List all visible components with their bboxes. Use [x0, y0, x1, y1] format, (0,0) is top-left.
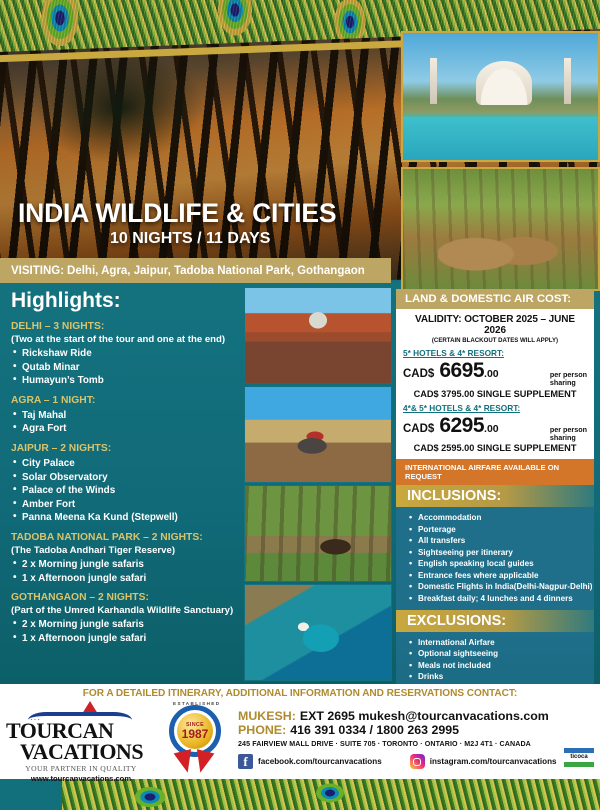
- list-item: All transfers: [418, 535, 594, 546]
- peacock-feather-banner-bottom: [0, 779, 600, 810]
- highlights-column: Highlights: DELHI – 3 NIGHTS:(Two at the…: [11, 289, 243, 652]
- tier-cents: .00: [484, 368, 499, 380]
- highlight-heading: DELHI – 3 NIGHTS:: [11, 321, 243, 334]
- badge-year: 1987: [182, 728, 209, 740]
- tier-supplement: CAD$ 2595.00 SINGLE SUPPLEMENT: [403, 443, 587, 453]
- highlight-item: Humayun’s Tomb: [11, 374, 243, 388]
- list-item: English speaking local guides: [418, 558, 594, 569]
- highlight-section: JAIPUR – 2 NIGHTS:City PalaceSolar Obser…: [11, 443, 243, 525]
- inclusions-header: INCLUSIONS:: [396, 485, 594, 507]
- tier-per-person: per person sharing: [550, 426, 587, 443]
- highlight-section: DELHI – 3 NIGHTS:(Two at the start of th…: [11, 321, 243, 388]
- logo-line-2: VACATIONS: [20, 742, 156, 763]
- peacock-photo: [244, 584, 392, 681]
- list-item: Sightseeing per itinerary: [418, 547, 594, 558]
- highlight-heading: AGRA – 1 NIGHT:: [11, 395, 243, 408]
- inclusions-list: AccommodationPorterageAll transfersSight…: [396, 507, 594, 610]
- highlight-item: Rickshaw Ride: [11, 347, 243, 361]
- price-tier: 5* HOTELS & 4* RESORT:CAD$6695.00per per…: [403, 348, 587, 399]
- humayuns-tomb-photo: [244, 287, 392, 384]
- minaret-left: [430, 58, 437, 104]
- tourcan-logo[interactable]: ··· TOURCAN VACATIONS YOUR PARTNER IN QU…: [6, 701, 156, 783]
- highlight-heading: JAIPUR – 2 NIGHTS:: [11, 443, 243, 456]
- international-airfare-banner: INTERNATIONAL AIRFARE AVAILABLE ON REQUE…: [396, 459, 594, 485]
- footer: FOR A DETAILED ITINERARY, ADDITIONAL INF…: [0, 684, 600, 779]
- hero-subtitle: 10 NIGHTS / 11 DAYS: [110, 230, 270, 248]
- logo-tagline: YOUR PARTNER IN QUALITY: [6, 764, 156, 773]
- highlight-item: 1 x Afternoon jungle safari: [11, 572, 243, 586]
- highlights-title: Highlights:: [11, 289, 243, 313]
- tico-logo: ticoca: [564, 748, 594, 767]
- validity-text: VALIDITY: OCTOBER 2025 – JUNE 2026: [403, 314, 587, 336]
- highlight-item: 2 x Morning jungle safaris: [11, 558, 243, 572]
- contact-phone-value[interactable]: 416 391 0334 / 1800 263 2995: [290, 723, 459, 737]
- highlight-section: GOTHANGAON – 2 NIGHTS:(Part of the Umred…: [11, 592, 243, 645]
- highlight-note: (Part of the Umred Karhandla Wildlife Sa…: [11, 605, 243, 617]
- tier-label: 4*& 5* HOTELS & 4* RESORT:: [403, 403, 587, 413]
- list-item: Meals not included: [418, 660, 594, 671]
- tier-amount: 6295: [439, 414, 484, 438]
- contact-phone-label: PHONE:: [238, 723, 286, 737]
- ribbon-right-icon: [192, 749, 215, 775]
- cost-panel: LAND & DOMESTIC AIR COST: VALIDITY: OCTO…: [396, 289, 594, 746]
- contact-address: 245 FAIRVIEW MALL DRIVE · SUITE 705 · TO…: [238, 740, 594, 748]
- highlight-note: (Two at the start of the tour and one at…: [11, 334, 243, 346]
- highlight-item: Qutab Minar: [11, 361, 243, 375]
- highlight-item: Solar Observatory: [11, 471, 243, 485]
- elephant-amber-fort-photo: [244, 386, 392, 483]
- tier-currency: CAD$: [403, 423, 434, 435]
- list-item: Optional sightseeing: [418, 648, 594, 659]
- logo-dots-icon: ···: [30, 715, 41, 724]
- tico-text: ticoca: [564, 753, 594, 762]
- highlight-item: Agra Fort: [11, 422, 243, 436]
- list-item: Drinks: [418, 671, 594, 682]
- contact-person-line: MUKESH: EXT 2695 mukesh@tourcanvacations…: [238, 709, 594, 723]
- tier-supplement: CAD$ 3795.00 SINGLE SUPPLEMENT: [403, 389, 587, 399]
- minaret-right: [564, 58, 571, 104]
- highlight-heading: GOTHANGAON – 2 NIGHTS:: [11, 592, 243, 605]
- page-title: INDIA WILDLIFE & CITIES: [18, 198, 336, 229]
- highlight-item: 1 x Afternoon jungle safari: [11, 632, 243, 646]
- facebook-icon[interactable]: f: [238, 754, 253, 769]
- highlight-item: Palace of the Winds: [11, 484, 243, 498]
- visiting-label: VISITING:: [11, 265, 64, 277]
- list-item: Entrance fees where applicable: [418, 570, 594, 581]
- list-item: International Airfare: [418, 637, 594, 648]
- tier-cents: .00: [484, 423, 499, 435]
- jungle-safari-gaur-photo: [244, 485, 392, 582]
- tier-amount: 6695: [439, 359, 484, 383]
- badge-disc: SINCE 1987: [177, 713, 213, 749]
- highlight-section: TADOBA NATIONAL PARK – 2 NIGHTS:(The Tad…: [11, 532, 243, 585]
- established-badge: ESTABLISHED SINCE 1987: [156, 701, 234, 781]
- contact-phone-line: PHONE: 416 391 0334 / 1800 263 2995: [238, 723, 594, 737]
- highlight-item: 2 x Morning jungle safaris: [11, 618, 243, 632]
- highlight-section: AGRA – 1 NIGHT:Taj MahalAgra Fort: [11, 395, 243, 436]
- contact-name-label: MUKESH:: [238, 709, 296, 723]
- tier-label: 5* HOTELS & 4* RESORT:: [403, 348, 587, 358]
- instagram-icon[interactable]: [410, 754, 425, 769]
- taj-mahal-photo: [401, 31, 600, 162]
- brochure-page: INDIA WILDLIFE & CITIES 10 NIGHTS / 11 D…: [0, 0, 600, 810]
- highlight-item: Panna Meena Ka Kund (Stepwell): [11, 511, 243, 525]
- highlight-heading: TADOBA NATIONAL PARK – 2 NIGHTS:: [11, 532, 243, 545]
- spotted-deer-photo: [401, 167, 600, 291]
- visiting-bar: VISITING: Delhi, Agra, Jaipur, Tadoba Na…: [0, 258, 391, 283]
- highlight-note: (The Tadoba Andhari Tiger Reserve): [11, 545, 243, 557]
- swoosh-icon: [28, 712, 132, 728]
- blackout-note: (CERTAIN BLACKOUT DATES WILL APPLY): [403, 337, 587, 344]
- facebook-link[interactable]: facebook.com/tourcanvacations: [258, 757, 382, 766]
- social-links: f facebook.com/tourcanvacations instagra…: [238, 754, 594, 769]
- highlight-item: Amber Fort: [11, 498, 243, 512]
- photo-strip: [244, 287, 392, 681]
- tier-currency: CAD$: [403, 368, 434, 380]
- list-item: Breakfast daily; 4 lunches and 4 dinners: [418, 593, 594, 604]
- exclusions-header: EXCLUSIONS:: [396, 610, 594, 632]
- tier-per-person: per person sharing: [550, 371, 587, 388]
- highlight-item: City Palace: [11, 457, 243, 471]
- instagram-link[interactable]: instagram.com/tourcanvacations: [430, 757, 557, 766]
- price-tier: 4*& 5* HOTELS & 4* RESORT:CAD$6295.00per…: [403, 403, 587, 454]
- list-item: Accommodation: [418, 512, 594, 523]
- visiting-cities: Delhi, Agra, Jaipur, Tadoba National Par…: [67, 265, 365, 277]
- contact-block: MUKESH: EXT 2695 mukesh@tourcanvacations…: [234, 701, 594, 769]
- contact-name-value[interactable]: EXT 2695 mukesh@tourcanvacations.com: [300, 709, 549, 723]
- logo-website[interactable]: www.tourcanvacations.com: [6, 774, 156, 783]
- footer-headline: FOR A DETAILED ITINERARY, ADDITIONAL INF…: [0, 684, 600, 699]
- list-item: Domestic Flights in India(Delhi-Nagpur-D…: [418, 581, 594, 592]
- land-air-cost-header: LAND & DOMESTIC AIR COST:: [396, 289, 594, 309]
- pricing-box: VALIDITY: OCTOBER 2025 – JUNE 2026 (CERT…: [396, 309, 594, 459]
- list-item: Porterage: [418, 524, 594, 535]
- highlight-item: Taj Mahal: [11, 409, 243, 423]
